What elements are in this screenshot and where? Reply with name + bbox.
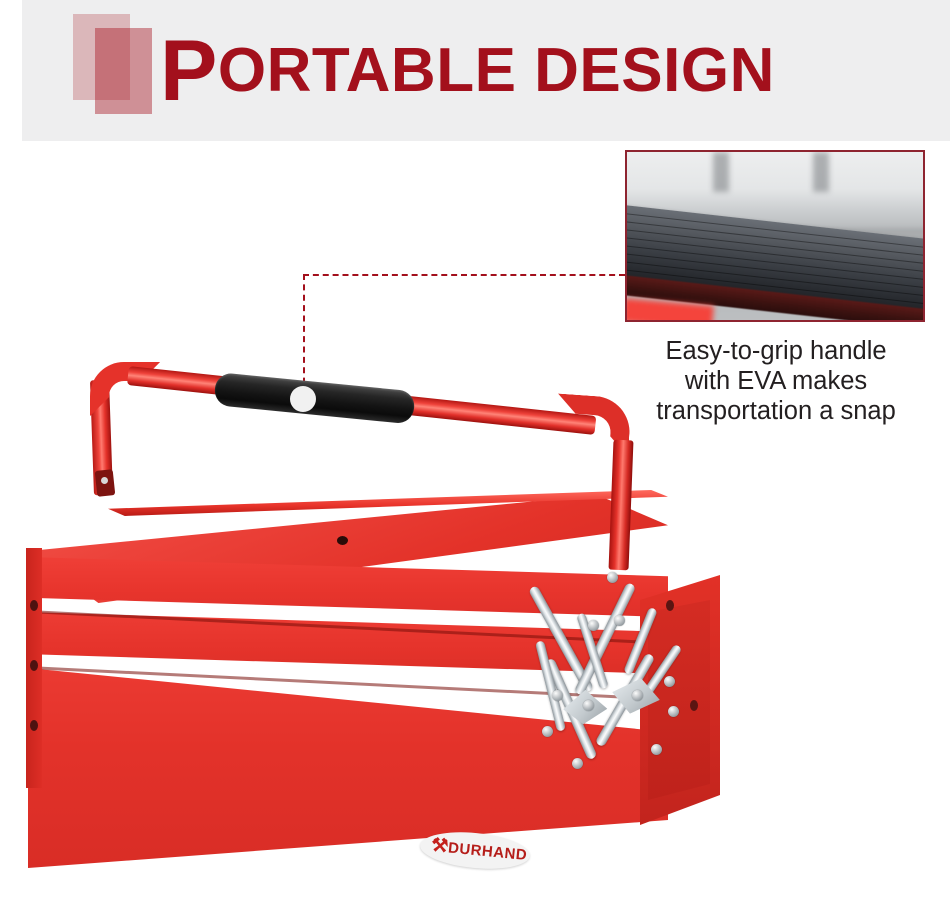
background-post-icon: [713, 152, 729, 192]
rivet-icon: [690, 700, 698, 711]
rivet-icon: [30, 600, 38, 611]
decor-square-front-icon: [95, 28, 152, 114]
page-title: PORTABLE DESIGN: [160, 16, 940, 126]
linkage-joint-icon: [664, 676, 675, 687]
handle-right-leg: [609, 440, 634, 571]
callout-leader-horizontal: [303, 274, 625, 276]
callout-anchor-dot-icon: [290, 386, 316, 412]
caption-line-1: Easy-to-grip handle: [608, 336, 944, 366]
rivet-icon: [30, 720, 38, 731]
rivet-icon: [30, 660, 38, 671]
caption-line-2: with EVA makes: [608, 366, 944, 396]
linkage-joint-icon: [668, 706, 679, 717]
caption-line-3: transportation a snap: [608, 396, 944, 426]
brand-badge: ⚒ DURHAND: [419, 828, 532, 873]
linkage-joint-icon: [542, 726, 553, 737]
page-title-rest: ORTABLE DESIGN: [218, 40, 775, 102]
lid-hole-icon: [337, 536, 348, 545]
handle-closeup-photo: [625, 150, 925, 322]
callout-leader-vertical: [303, 274, 305, 394]
linkage-joint-icon: [607, 572, 618, 583]
brand-badge-label: DURHAND: [447, 839, 528, 864]
linkage-joint-icon: [632, 690, 643, 701]
linkage-joint-icon: [614, 615, 625, 626]
page-title-cap: P: [160, 28, 218, 114]
linkage-joint-icon: [552, 690, 563, 701]
page-root: PORTABLE DESIGN Easy-to-grip handle with…: [0, 0, 950, 903]
linkage-joint-icon: [588, 620, 599, 631]
linkage-joint-icon: [651, 744, 662, 755]
caption-block: Easy-to-grip handle with EVA makes trans…: [608, 336, 944, 426]
linkage-joint-icon: [572, 758, 583, 769]
handle-pivot-screw-icon: [101, 477, 108, 484]
linkage-joint-icon: [583, 700, 594, 711]
background-post-icon: [813, 152, 829, 192]
rivet-icon: [666, 600, 674, 611]
